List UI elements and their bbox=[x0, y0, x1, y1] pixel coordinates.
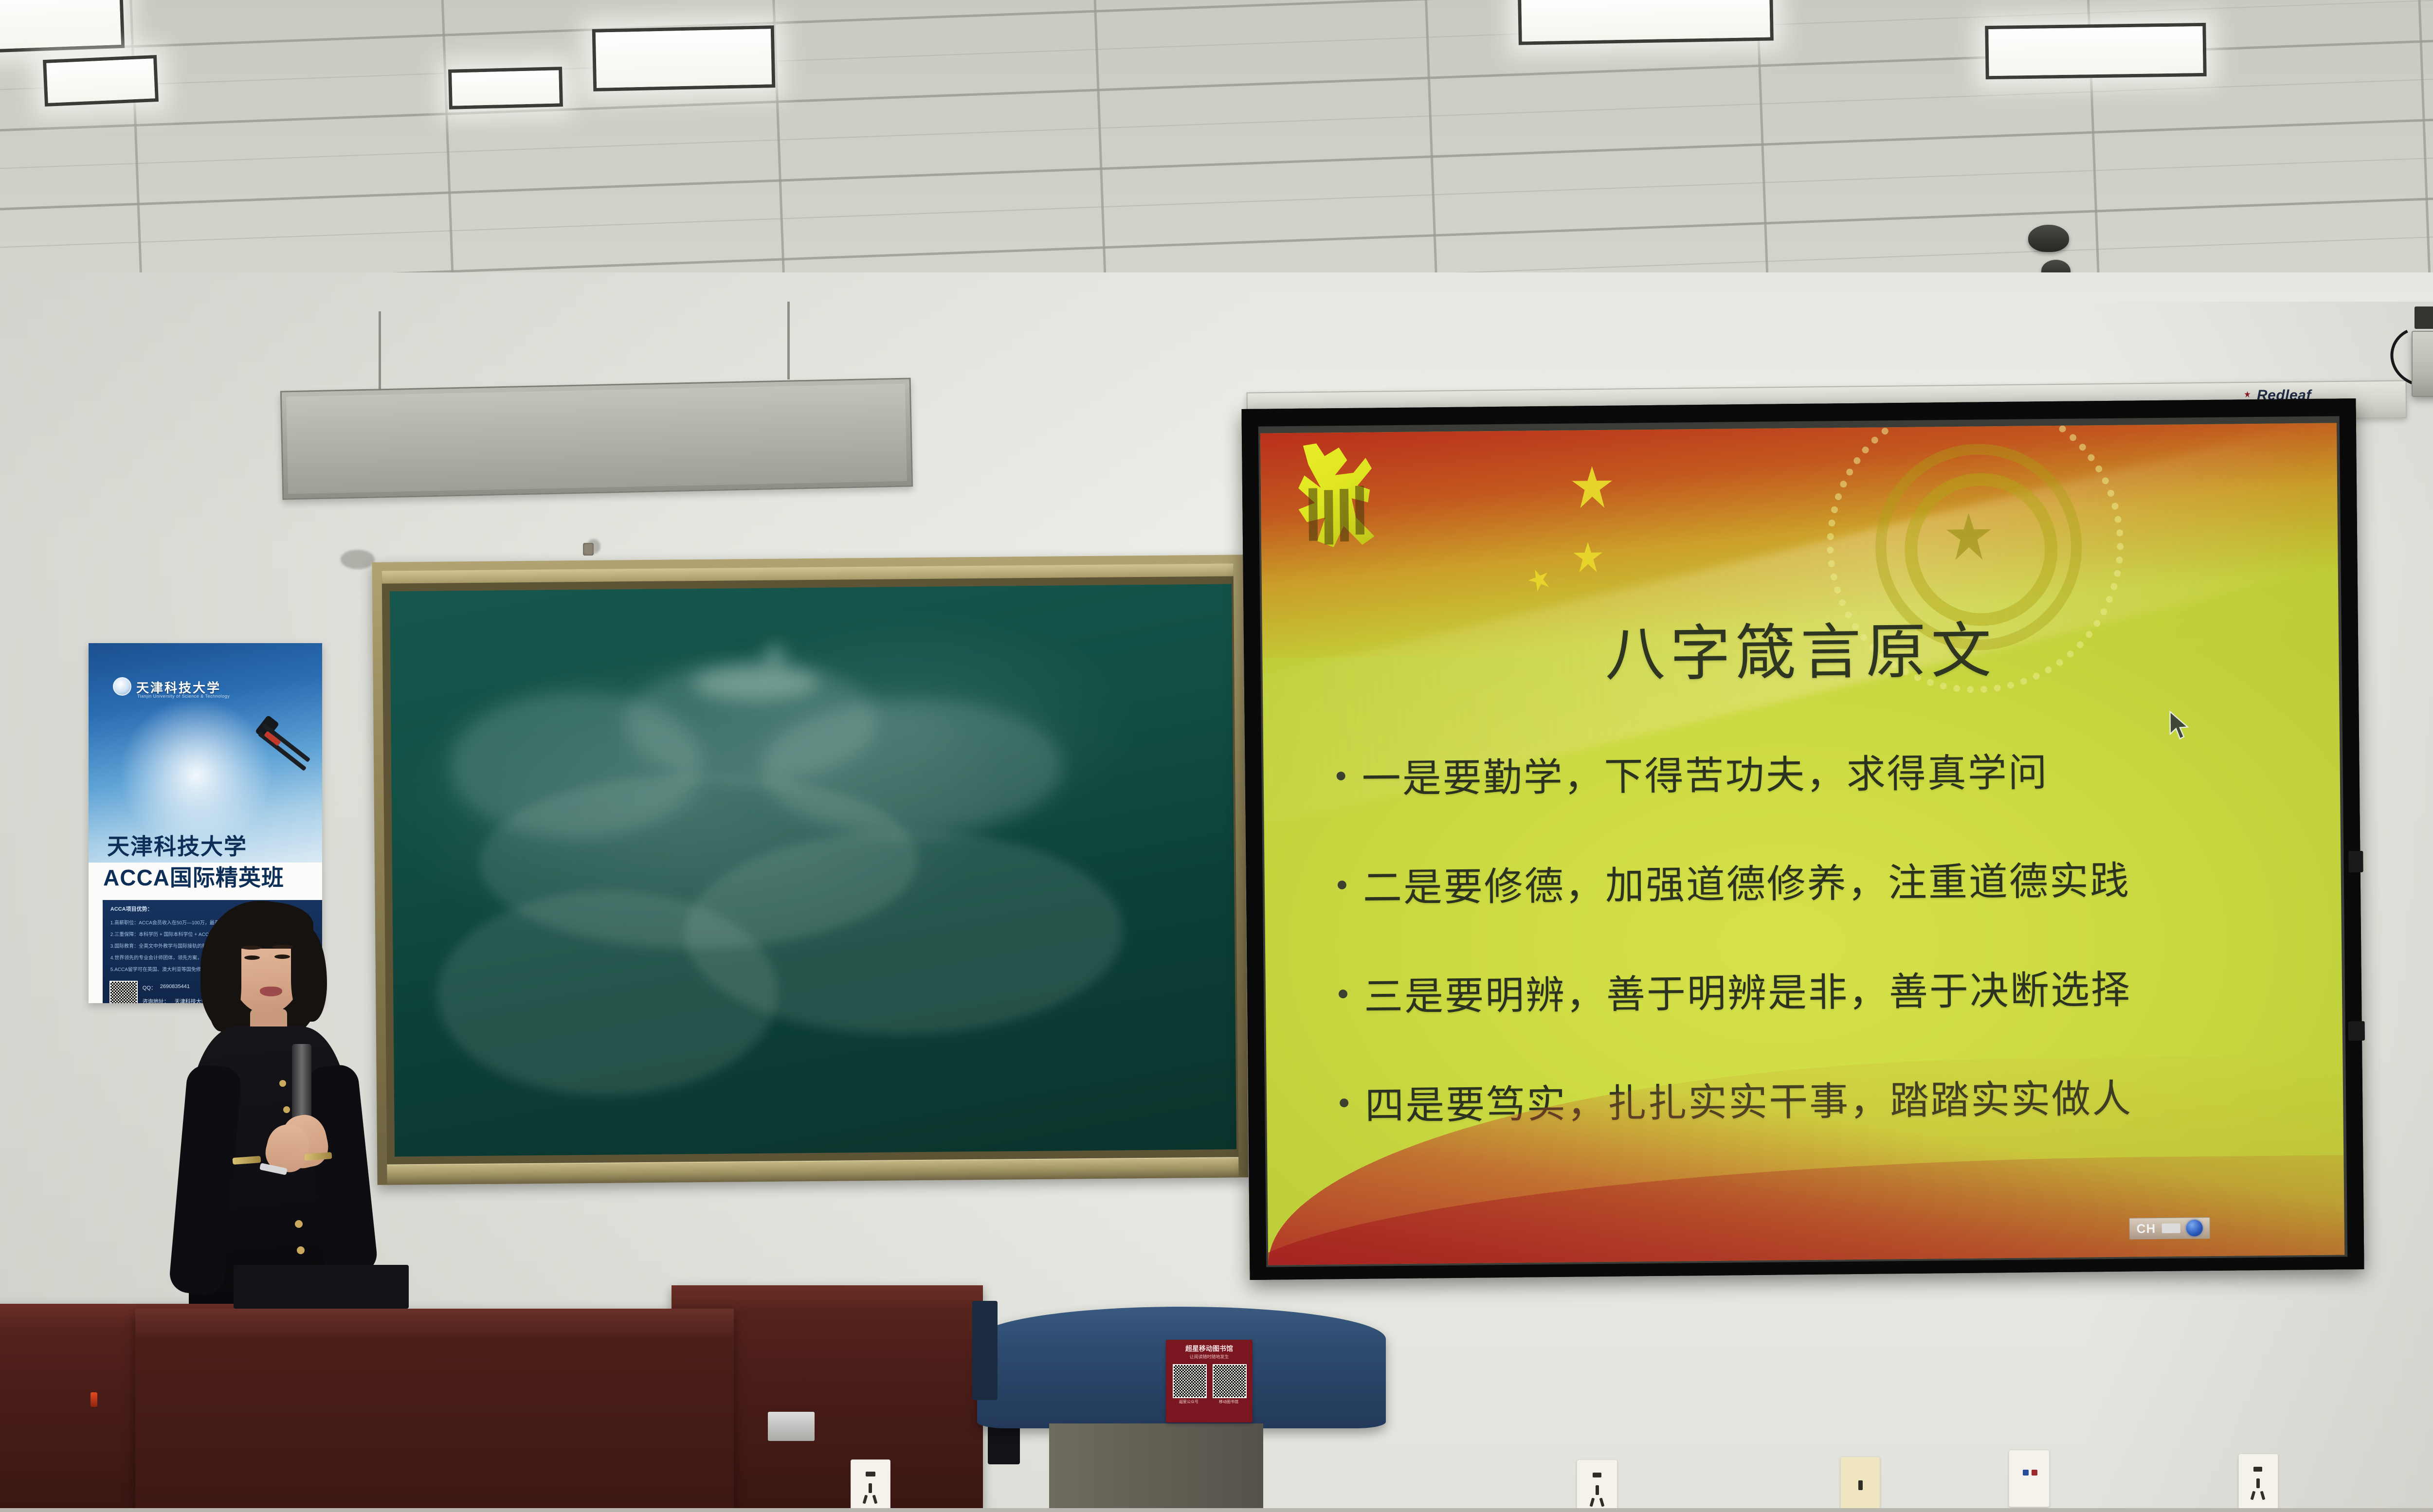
ceiling-light-panel bbox=[1985, 23, 2206, 79]
globe-icon[interactable] bbox=[2186, 1220, 2202, 1236]
presenter-mouth bbox=[260, 987, 282, 996]
projector-bracket bbox=[2415, 306, 2433, 329]
kiosk-qr-left-label: 超星公众号 bbox=[1171, 1399, 1207, 1404]
slide-bullet-text: 三是要明辨，善于明辨是非，善于决断选择 bbox=[1363, 958, 2131, 1022]
poster-contact-qq-label: QQ： bbox=[143, 984, 156, 991]
classroom-scene: 天津科技大学 Tianjin University of Science & T… bbox=[0, 0, 2433, 1512]
light-fixture-rod bbox=[787, 302, 790, 379]
slide-bullet-item: 一是要勤学，下得苦功夫，求得真学问 bbox=[1336, 738, 2311, 804]
poster-headline-line2: ACCA国际精英班 bbox=[103, 860, 284, 892]
bullet-dot-icon bbox=[1340, 1098, 1348, 1107]
presenter-button bbox=[295, 1220, 303, 1228]
blackboard-surface bbox=[390, 584, 1236, 1156]
marker-pin bbox=[91, 1392, 97, 1407]
bullet-dot-icon bbox=[1338, 881, 1346, 889]
kiosk-qr-sticker[interactable]: 超星移动图书馆 让阅读随时随地发生 超星公众号 移动图书馆 bbox=[1166, 1340, 1253, 1422]
arrow-cursor-icon bbox=[2169, 710, 2192, 740]
presenter-eyebrow bbox=[272, 945, 293, 949]
poster-contact-qq: 2690835441 bbox=[160, 984, 190, 990]
presenter-button bbox=[279, 1080, 286, 1087]
floor-edge bbox=[0, 1508, 2433, 1512]
blackboard bbox=[372, 555, 1248, 1185]
slide-bullet-text: 一是要勤学，下得苦功夫，求得真学问 bbox=[1362, 741, 2049, 804]
kiosk-side bbox=[972, 1301, 998, 1400]
presenter-eye bbox=[244, 955, 260, 960]
bullet-dot-icon bbox=[1339, 990, 1347, 998]
microphone bbox=[292, 1044, 311, 1122]
kiosk-leg bbox=[1049, 1423, 1263, 1512]
slide-bullet-text: 二是要修德，加强道德修养，注重道德实践 bbox=[1362, 849, 2130, 913]
qr-code-icon[interactable] bbox=[1213, 1364, 1247, 1398]
ime-taskbar[interactable]: CH bbox=[2129, 1217, 2210, 1240]
hanging-light-fixture bbox=[280, 378, 913, 500]
power-outlet[interactable] bbox=[1577, 1459, 1617, 1512]
ime-mode-button[interactable] bbox=[2161, 1224, 2180, 1233]
data-port[interactable] bbox=[2009, 1450, 2050, 1507]
desk-object bbox=[768, 1412, 815, 1441]
poster-info-line: 2.三重保障：本科学历 + 国际本科学位 + ACCA证书 bbox=[110, 930, 222, 937]
poster-contact-address-label: 咨询地址： bbox=[143, 997, 169, 1003]
screen-side-tab bbox=[2348, 1021, 2365, 1041]
kiosk-sticker-title: 超星移动图书馆 bbox=[1166, 1344, 1253, 1353]
poster-university-name-en: Tianjin University of Science & Technolo… bbox=[137, 694, 230, 699]
power-outlet[interactable] bbox=[1840, 1457, 1880, 1512]
ceiling-light-panel bbox=[448, 67, 563, 109]
presenter-eyebrow bbox=[241, 946, 262, 950]
bullet-dot-icon bbox=[1337, 772, 1345, 780]
desk-object bbox=[234, 1265, 409, 1309]
blackboard-screw bbox=[583, 543, 594, 556]
podium bbox=[135, 1309, 734, 1512]
kiosk-qr-right-label: 移动图书馆 bbox=[1211, 1399, 1247, 1404]
ime-language-label[interactable]: CH bbox=[2137, 1221, 2156, 1236]
slide-bullet-item: 二是要修德，加强道德修养，注重道德实践 bbox=[1337, 847, 2312, 913]
ceiling-camera-icon bbox=[2028, 225, 2069, 252]
screen-side-tab bbox=[2348, 851, 2363, 872]
presentation-slide[interactable]: 八字箴言原文 一是要勤学，下得苦功夫，求得真学问 二是要修德，加强道德修养，注重… bbox=[1260, 423, 2344, 1265]
ceiling-light-panel bbox=[1518, 0, 1774, 45]
light-fixture-rod bbox=[379, 311, 381, 394]
university-logo-icon bbox=[113, 677, 131, 696]
party-emblem-icon bbox=[1286, 443, 1389, 550]
ceiling-light-panel bbox=[0, 0, 125, 53]
poster-info-heading: ACCA项目优势： bbox=[110, 905, 153, 913]
presenter-eye bbox=[274, 954, 290, 959]
kiosk-sticker-subtitle: 让阅读随时随地发生 bbox=[1166, 1353, 1253, 1360]
power-outlet[interactable] bbox=[851, 1459, 890, 1512]
presenter-button bbox=[297, 1246, 305, 1254]
presenter-button bbox=[283, 1106, 290, 1113]
qr-code-icon bbox=[109, 981, 138, 1003]
ceiling-light-panel bbox=[43, 55, 159, 107]
projector bbox=[2412, 331, 2433, 397]
slide-title: 八字箴言原文 bbox=[1262, 598, 2339, 696]
power-outlet[interactable] bbox=[2238, 1454, 2278, 1509]
projection-screen: 八字箴言原文 一是要勤学，下得苦功夫，求得真学问 二是要修德，加强道德修养，注重… bbox=[1241, 398, 2364, 1280]
slide-bullet-item: 三是要明辨，善于明辨是非，善于决断选择 bbox=[1338, 956, 2313, 1022]
ceiling-light-panel bbox=[592, 25, 776, 91]
poster-headline-line1: 天津科技大学 bbox=[107, 829, 247, 861]
qr-code-icon[interactable] bbox=[1173, 1364, 1207, 1398]
